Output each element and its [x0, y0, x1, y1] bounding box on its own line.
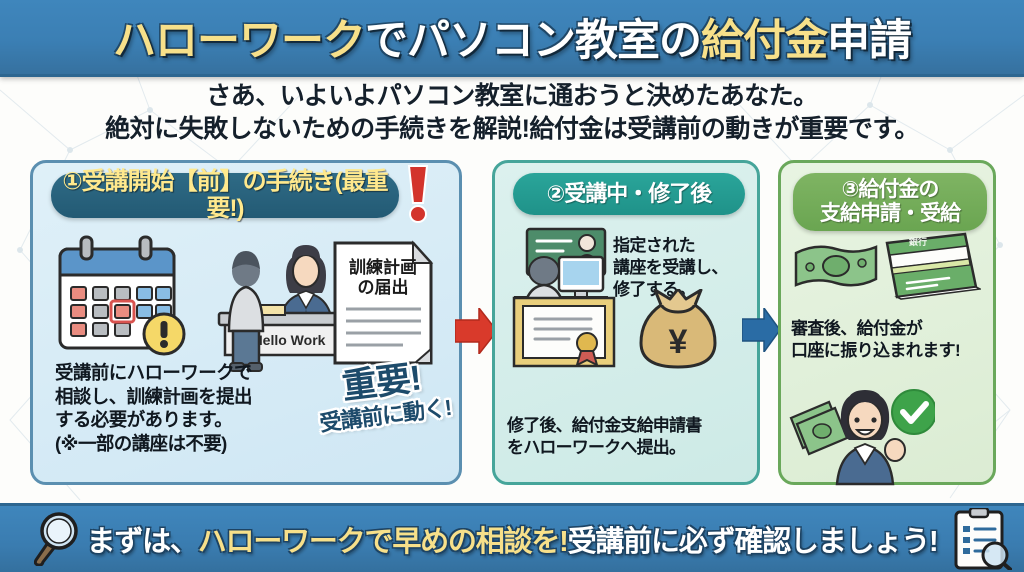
infographic-root: ハローワークでパソコン教室の給付金申請 さあ、いよいよパソコン教室に通おうと決め… — [0, 0, 1024, 572]
header-banner: ハローワークでパソコン教室の給付金申請 — [0, 0, 1024, 77]
step-1-body-line-3: する必要があります。 — [55, 408, 305, 432]
divider-dots-bottom — [509, 395, 749, 398]
title-segment-1: ハローワーク — [113, 17, 365, 65]
title-segment-3: 給付金 — [701, 17, 827, 65]
step-3-heading-line-1: ③給付金の — [842, 178, 939, 202]
title-segment-2: でパソコン教室の — [365, 17, 701, 65]
yen-money-bag-icon: ¥ — [637, 289, 719, 371]
footer-segment-1: まずは、 — [87, 526, 198, 558]
title-segment-4: 申請 — [827, 17, 911, 65]
banknote-icon — [793, 241, 879, 293]
step-3-panel: ③給付金の 支給申請・受給 銀行 審査 — [778, 160, 996, 485]
certificate-icon — [511, 295, 617, 369]
subtitle-line-1: さあ、いよいよパソコン教室に通おうと決めたあなた。 — [0, 80, 1024, 113]
document-label-line-2: の届出 — [358, 277, 409, 297]
step-1-panel: ①受講開始【前】の手続き(最重要!) — [30, 160, 462, 485]
step-2-heading: ②受講中・修了後 — [513, 173, 745, 215]
training-plan-document-icon: 訓練計画 の届出 — [329, 239, 437, 367]
exclamation-mark-icon — [405, 165, 431, 223]
step-1-body-line-4: (※一部の講座は不要) — [55, 432, 305, 456]
bankbook-label: 銀行 — [909, 236, 927, 247]
warning-icon — [141, 311, 187, 357]
step-1-body-line-2: 相談し、訓練計画を提出 — [55, 385, 305, 409]
step-3-heading: ③給付金の 支給申請・受給 — [793, 173, 987, 231]
step-1-heading: ①受講開始【前】の手続き(最重要!) — [51, 173, 399, 218]
steps-container: ①受講開始【前】の手続き(最重要!) — [0, 160, 1024, 485]
step-2-top-line-1: 指定された — [613, 235, 753, 257]
step-2-body-bottom: 修了後、給付金支給申請書 をハローワークへ提出。 — [507, 415, 757, 459]
page-title: ハローワークでパソコン教室の給付金申請 — [113, 6, 911, 68]
step-1-body-line-1: 受講前にハローワークで — [55, 361, 305, 385]
clipboard-checklist-icon — [948, 508, 1012, 570]
counter-sign-label: Hello Work — [253, 332, 326, 348]
step-2-bottom-line-2: をハローワークへ提出。 — [507, 437, 757, 459]
subtitle-line-2: 絶対に失敗しないための手続きを解説!給付金は受講前の動きが重要です。 — [0, 113, 1024, 146]
arrow-step2-to-step3 — [742, 308, 780, 352]
step-2-bottom-line-1: 修了後、給付金支給申請書 — [507, 415, 757, 437]
step-3-body-line-2: 口座に振り込まれます! — [791, 340, 991, 362]
happy-woman-with-money-icon — [785, 378, 935, 486]
step-2-top-line-2: 講座を受講し、 — [613, 257, 753, 279]
document-label-line-1: 訓練計画 — [349, 257, 417, 277]
bankbook-icon: 銀行 — [881, 231, 981, 301]
footer-banner: まずは、ハローワークで早めの相談を!受講前に必ず確認しましょう! — [0, 503, 1024, 572]
svg-text:¥: ¥ — [669, 323, 688, 361]
step-3-body: 審査後、給付金が 口座に振り込まれます! — [791, 318, 991, 362]
divider-dots-top — [509, 281, 749, 284]
step-2-panel: ②受講中・修了後 指定された 講座を受講し、 修了する。 — [492, 160, 760, 485]
footer-segment-2: ハローワークで早めの相談を! — [198, 526, 568, 558]
footer-segment-3: 受講前に必ず確認しましょう! — [568, 526, 938, 558]
subtitle: さあ、いよいよパソコン教室に通おうと決めたあなた。 絶対に失敗しないための手続き… — [0, 80, 1024, 147]
arrow-step1-to-step2 — [455, 308, 497, 354]
hello-work-counter-icon: Hello Work — [193, 227, 345, 377]
footer-message: まずは、ハローワークで早めの相談を!受講前に必ず確認しましょう! — [87, 518, 938, 560]
step-3-body-line-1: 審査後、給付金が — [791, 318, 991, 340]
magnifier-icon — [34, 510, 92, 566]
step-1-body: 受講前にハローワークで 相談し、訓練計画を提出 する必要があります。 (※一部の… — [55, 361, 305, 456]
step-3-heading-line-2: 支給申請・受給 — [820, 202, 960, 226]
